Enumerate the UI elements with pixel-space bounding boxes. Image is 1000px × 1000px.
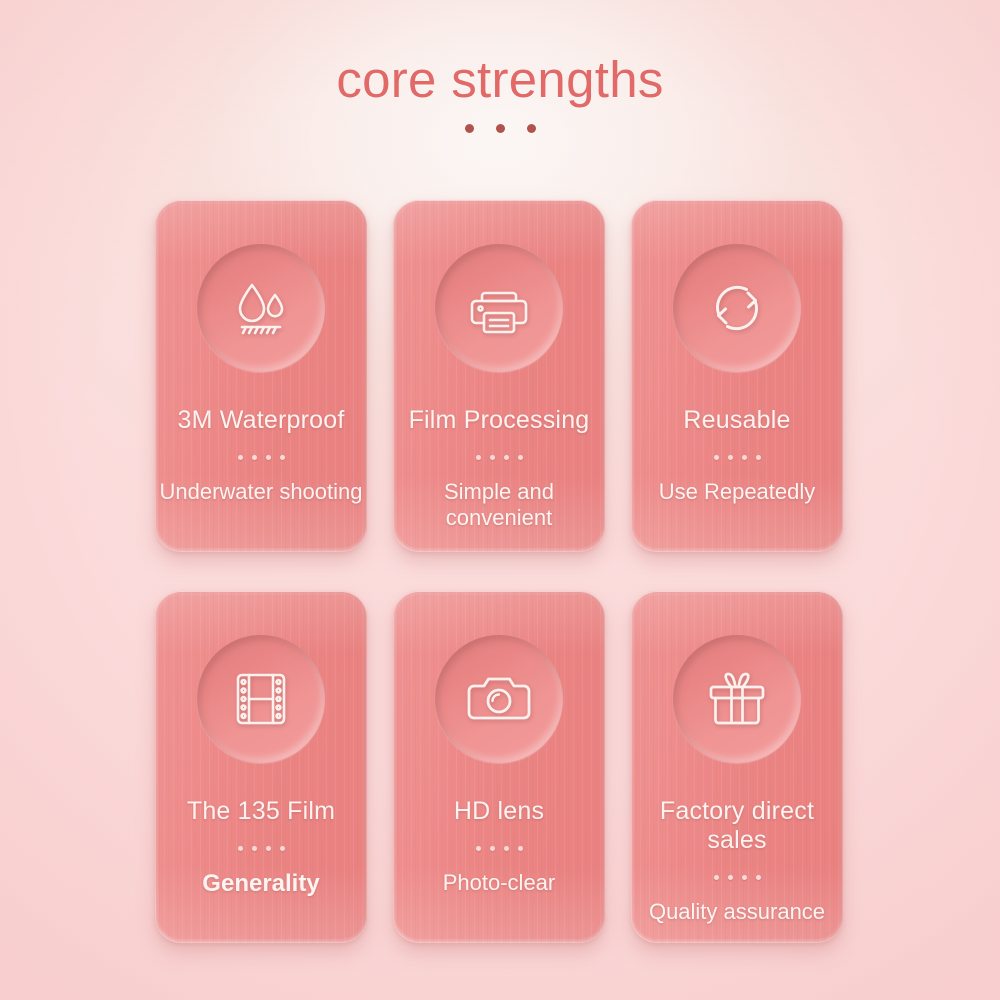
icon-well [197,635,325,763]
feature-card[interactable]: The 135 Film Generality [155,591,367,943]
title-dot [465,124,474,133]
card-title: 3M Waterproof [155,406,367,435]
dot [728,875,733,880]
icon-well [435,244,563,372]
card-dot-separator [393,455,605,460]
printer-icon [468,279,530,337]
feature-card-grid: 3M Waterproof Underwater shooting [155,200,847,943]
feature-card[interactable]: Film Processing Simple and convenient [393,200,605,552]
feature-card[interactable]: 3M Waterproof Underwater shooting [155,200,367,552]
dot [490,455,495,460]
feature-card[interactable]: Factory direct sales Quality assurance [631,591,843,943]
dot [280,455,285,460]
dot [476,846,481,851]
card-dot-separator [631,875,843,880]
icon-well [197,244,325,372]
page-header: core strengths [0,52,1000,133]
title-dot-separator [0,124,1000,133]
dot [252,846,257,851]
dot [266,846,271,851]
icon-well [673,244,801,372]
card-dot-separator [155,455,367,460]
card-dot-separator [155,846,367,851]
card-dot-separator [393,846,605,851]
page-title: core strengths [0,52,1000,108]
dot [280,846,285,851]
title-dot [496,124,505,133]
dot [742,875,747,880]
dot [756,875,761,880]
dot [266,455,271,460]
camera-icon [467,672,531,726]
recycle-arrows-icon [707,279,767,337]
card-title: HD lens [393,797,605,826]
dot [714,455,719,460]
card-dot-separator [631,455,843,460]
card-subtitle: Photo-clear [393,870,605,896]
dot [490,846,495,851]
water-drops-icon [230,278,292,338]
dot [238,455,243,460]
dot [756,455,761,460]
dot [238,846,243,851]
card-subtitle: Quality assurance [631,899,843,925]
dot [518,846,523,851]
dot [504,846,509,851]
card-subtitle: Underwater shooting [155,479,367,505]
feature-highlight-page: core strengths [0,0,1000,1000]
feature-card[interactable]: Reusable Use Repeatedly [631,200,843,552]
gift-box-icon [707,670,767,728]
card-subtitle: Simple and convenient [393,479,605,531]
dot [518,455,523,460]
card-subtitle: Generality [155,870,367,898]
dot [728,455,733,460]
card-subtitle: Use Repeatedly [631,479,843,505]
icon-well [435,635,563,763]
icon-well [673,635,801,763]
card-title: The 135 Film [155,797,367,826]
dot [714,875,719,880]
dot [252,455,257,460]
card-title: Factory direct sales [631,797,843,855]
dot [504,455,509,460]
feature-card[interactable]: HD lens Photo-clear [393,591,605,943]
card-title: Film Processing [393,406,605,435]
dot [742,455,747,460]
title-dot [527,124,536,133]
card-title: Reusable [631,406,843,435]
film-strip-icon [233,670,289,728]
dot [476,455,481,460]
